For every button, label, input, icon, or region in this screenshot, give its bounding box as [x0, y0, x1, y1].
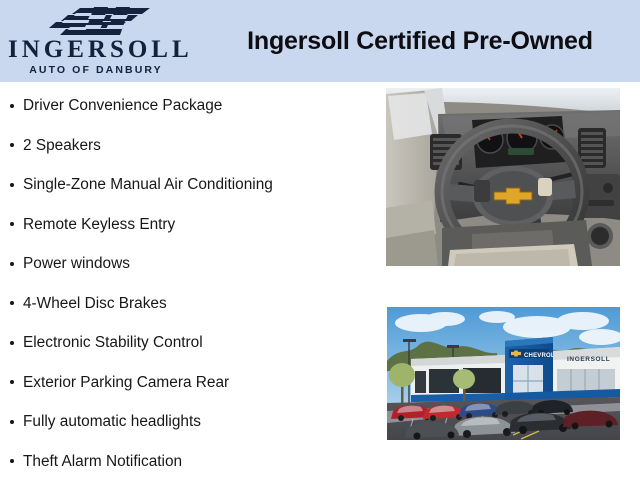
- vehicle-interior-photo: [386, 88, 620, 266]
- list-item: Exterior Parking Camera Rear: [0, 363, 380, 403]
- dealership-exterior-photo: CHEVROLET INGERSOLL: [387, 307, 620, 440]
- logo-tagline: AUTO OF DANBURY: [8, 64, 184, 76]
- list-item: Single-Zone Manual Air Conditioning: [0, 165, 380, 205]
- slide-root: INGERSOLL AUTO OF DANBURY Ingersoll Cert…: [0, 0, 640, 480]
- banner-title: Ingersoll Certified Pre-Owned: [205, 26, 635, 56]
- svg-text:INGERSOLL: INGERSOLL: [567, 356, 610, 363]
- header-banner: INGERSOLL AUTO OF DANBURY Ingersoll Cert…: [0, 0, 640, 82]
- dealer-logo: INGERSOLL AUTO OF DANBURY: [8, 2, 184, 80]
- logo-wordmark: INGERSOLL: [8, 36, 184, 63]
- list-item: 4-Wheel Disc Brakes: [0, 284, 380, 324]
- list-item: Driver Convenience Package: [0, 86, 380, 126]
- winged-speed-emblem-icon: [46, 6, 154, 36]
- feature-list: Driver Convenience Package 2 Speakers Si…: [0, 86, 380, 478]
- list-item: Electronic Stability Control: [0, 323, 380, 363]
- list-item: Power windows: [0, 244, 380, 284]
- list-item: 2 Speakers: [0, 126, 380, 166]
- list-item: Remote Keyless Entry: [0, 205, 380, 245]
- list-item: Theft Alarm Notification: [0, 442, 380, 481]
- list-item: Fully automatic headlights: [0, 402, 380, 442]
